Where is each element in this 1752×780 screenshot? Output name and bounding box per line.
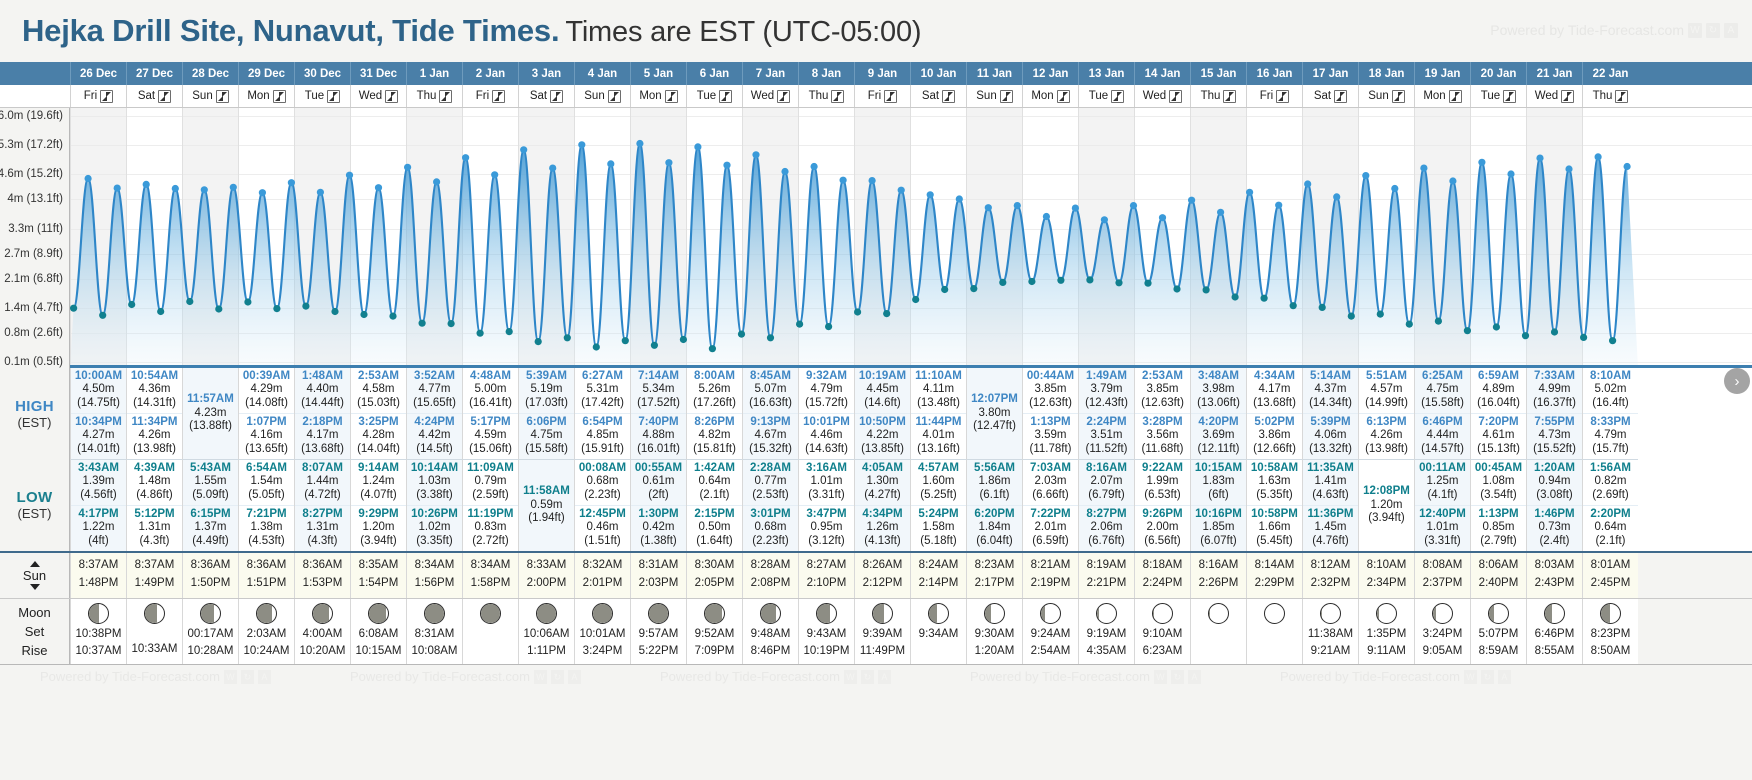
high-tide-entry: 8:00AM5.26m(17.26ft) <box>687 368 742 413</box>
high-tide-point <box>462 154 469 161</box>
high-tide-point <box>230 184 237 191</box>
expand-icon[interactable] <box>1334 90 1347 103</box>
footer-powered-by-text: Powered by Tide-Forecast.com <box>1280 669 1460 684</box>
wind-icon: W <box>1464 670 1477 684</box>
tide-height-feet: (15.72ft) <box>799 397 854 410</box>
moonrise-time: 9:21AM <box>1303 643 1358 660</box>
high-tide-point <box>636 140 643 147</box>
low-tide-entry: 11:19PM0.83m(2.72ft) <box>463 505 518 551</box>
date-header-cell[interactable]: 21 Jan <box>1526 62 1582 85</box>
tide-time: 8:27PM <box>295 508 350 521</box>
tide-time: 10:34PM <box>71 416 126 429</box>
tide-time: 2:28AM <box>743 462 798 475</box>
tide-height-meters: 1.83m <box>1191 475 1246 488</box>
chart-plot-area[interactable] <box>70 108 1752 368</box>
sunset-time: 1:51PM <box>239 575 294 593</box>
tide-height-meters: 1.54m <box>239 475 294 488</box>
date-header-cell[interactable]: 28 Dec <box>182 62 238 85</box>
moon-phase-icon <box>536 603 557 624</box>
tide-chart-page: Hejka Drill Site, Nunavut, Tide Times.Ti… <box>0 0 1752 780</box>
sunset-time: 2:21PM <box>1079 575 1134 593</box>
footer-powered-by-text: Powered by Tide-Forecast.com <box>350 669 530 684</box>
moon-column: 5:07PM8:59AM <box>1470 599 1526 665</box>
moonset-time: 6:46PM <box>1527 626 1582 643</box>
tide-height-meters: 3.69m <box>1191 429 1246 442</box>
sunset-time: 1:53PM <box>295 575 350 593</box>
tide-time: 8:45AM <box>743 370 798 383</box>
moonrise-time: 10:28AM <box>183 643 238 660</box>
high-tide-point <box>1014 202 1021 209</box>
low-tide-entry: 2:28AM0.77m(2.53ft) <box>743 460 798 505</box>
day-row-corner <box>0 85 70 107</box>
y-axis-tick-label: 0.8m (2.6ft) <box>4 327 63 339</box>
tide-height-meters: 4.27m <box>71 429 126 442</box>
sun-column: 8:36AM1:50PM <box>182 553 238 598</box>
tide-time: 8:00AM <box>687 370 742 383</box>
low-tide-point <box>941 286 948 293</box>
date-header-cell[interactable]: 16 Jan <box>1246 62 1302 85</box>
low-tide-entry: 10:15AM1.83m(6ft) <box>1191 460 1246 505</box>
tide-height-meters: 0.82m <box>1583 475 1638 488</box>
tide-height-feet: (4.76ft) <box>1303 535 1358 548</box>
moon-phase-icon <box>1600 603 1621 624</box>
tide-time: 2:53AM <box>1135 370 1190 383</box>
tide-height-meters: 5.07m <box>743 383 798 396</box>
tide-time: 12:08PM <box>1359 485 1414 498</box>
tide-time: 11:57AM <box>183 393 238 406</box>
sunset-time: 2:26PM <box>1191 575 1246 593</box>
expand-icon[interactable] <box>385 90 398 103</box>
high-tide-point <box>1507 170 1514 177</box>
low-tide-column: 9:14AM1.24m(4.07ft)9:29PM1.20m(3.94ft) <box>350 460 406 551</box>
tide-height-feet: (1.94ft) <box>519 512 574 525</box>
moonrise-time: 9:05AM <box>1415 643 1470 660</box>
tide-height-feet: (5.18ft) <box>911 535 966 548</box>
expand-icon[interactable] <box>158 90 171 103</box>
moon-label: Moon Set Rise <box>0 599 70 665</box>
date-row-corner <box>0 62 70 85</box>
low-tide-column: 8:16AM2.07m(6.79ft)8:27PM2.06m(6.76ft) <box>1078 460 1134 551</box>
moon-phase-icon <box>1040 603 1061 624</box>
refresh-icon: ↻ <box>861 670 874 684</box>
tide-time: 10:15AM <box>1191 462 1246 475</box>
expand-icon[interactable] <box>1449 90 1462 103</box>
date-header-cell[interactable]: 4 Jan <box>574 62 630 85</box>
expand-icon[interactable] <box>1276 90 1289 103</box>
tide-height-meters: 1.41m <box>1303 475 1358 488</box>
tide-height-feet: (14.44ft) <box>295 397 350 410</box>
date-header-cell[interactable]: 17 Jan <box>1302 62 1358 85</box>
moon-phase-icon <box>88 603 109 624</box>
tide-time: 6:54PM <box>575 416 630 429</box>
high-tide-entry: 12:07PM3.80m(12.47ft) <box>967 379 1022 447</box>
date-header-cell[interactable]: 8 Jan <box>798 62 854 85</box>
sun-column: 8:35AM1:54PM <box>350 553 406 598</box>
sun-column: 8:06AM2:40PM <box>1470 553 1526 598</box>
moon-column: 9:43AM10:19PM <box>798 599 854 665</box>
date-header-cell[interactable]: 7 Jan <box>742 62 798 85</box>
sunrise-time: 8:06AM <box>1471 557 1526 575</box>
tide-height-feet: (2.1ft) <box>687 489 742 502</box>
high-tide-column: 5:39AM5.19m(17.03ft)6:06PM4.75m(15.58ft) <box>518 368 574 460</box>
tide-height-feet: (15.7ft) <box>1583 443 1638 456</box>
tide-height-meters: 1.48m <box>127 475 182 488</box>
high-tide-point <box>1188 197 1195 204</box>
expand-icon[interactable] <box>1615 90 1628 103</box>
moon-column: 00:17AM10:28AM <box>182 599 238 665</box>
high-tide-point <box>143 181 150 188</box>
low-tide-point <box>128 301 135 308</box>
day-of-week-label: Sun <box>584 90 604 102</box>
tide-height-feet: (2.1ft) <box>1583 535 1638 548</box>
expand-icon[interactable] <box>100 90 113 103</box>
tide-height-feet: (15.58ft) <box>1415 397 1470 410</box>
expand-icon[interactable] <box>216 90 229 103</box>
tide-height-feet: (4.1ft) <box>1415 489 1470 502</box>
day-of-week-label: Mon <box>639 90 661 102</box>
date-header-cell[interactable]: 9 Jan <box>854 62 910 85</box>
expand-icon[interactable] <box>327 90 340 103</box>
expand-icon[interactable] <box>884 90 897 103</box>
sun-column: 8:37AM1:49PM <box>126 553 182 598</box>
moon-phase-icon <box>256 603 277 624</box>
expand-icon[interactable] <box>1000 90 1013 103</box>
tide-height-meters: 1.30m <box>855 475 910 488</box>
tide-time: 1:13PM <box>1471 508 1526 521</box>
date-header-cell[interactable]: 3 Jan <box>518 62 574 85</box>
date-header-cell[interactable]: 1 Jan <box>406 62 462 85</box>
expand-icon[interactable] <box>665 90 678 103</box>
tide-height-feet: (14.04ft) <box>351 443 406 456</box>
expand-icon[interactable] <box>550 90 563 103</box>
expand-icon[interactable] <box>719 90 732 103</box>
low-tide-entry: 2:20PM0.64m(2.1ft) <box>1583 505 1638 551</box>
moonrise-time: 8:46PM <box>743 643 798 660</box>
wind-icon: W <box>1688 23 1702 38</box>
high-tide-point <box>694 143 701 150</box>
expand-icon[interactable] <box>831 90 844 103</box>
tide-height-meters: 4.16m <box>239 429 294 442</box>
day-header-cell: Tue <box>686 85 742 107</box>
date-header-cell[interactable]: 30 Dec <box>294 62 350 85</box>
tide-height-meters: 4.77m <box>407 383 462 396</box>
tide-height-feet: (6.76ft) <box>1079 535 1134 548</box>
sunrise-arrow-icon <box>30 561 40 567</box>
high-tide-entry: 4:34AM4.17m(13.68ft) <box>1247 368 1302 413</box>
sunrise-time: 8:23AM <box>967 557 1022 575</box>
date-header-cell[interactable]: 5 Jan <box>630 62 686 85</box>
high-tide-column: 9:32AM4.79m(15.72ft)10:01PM4.46m(14.63ft… <box>798 368 854 460</box>
low-tide-point <box>70 305 77 312</box>
high-tide-point <box>752 151 759 158</box>
sunset-time: 1:54PM <box>351 575 406 593</box>
low-tide-point <box>1493 323 1500 330</box>
tide-time: 3:25PM <box>351 416 406 429</box>
day-header-cell: Tue <box>1470 85 1526 107</box>
tide-height-feet: (13.16ft) <box>911 443 966 456</box>
low-tide-point <box>999 279 1006 286</box>
tide-height-meters: 4.11m <box>911 383 966 396</box>
sunrise-time: 8:26AM <box>855 557 910 575</box>
sunrise-time: 8:16AM <box>1191 557 1246 575</box>
low-tide-entry: 9:22AM1.99m(6.53ft) <box>1135 460 1190 505</box>
low-tide-point <box>738 331 745 338</box>
low-tide-entry: 00:45AM1.08m(3.54ft) <box>1471 460 1526 505</box>
high-tide-point <box>1595 153 1602 160</box>
sunrise-time: 8:30AM <box>687 557 742 575</box>
high-tide-column: 6:59AM4.89m(16.04ft)7:20PM4.61m(15.13ft) <box>1470 368 1526 460</box>
moonset-time: 8:23PM <box>1583 626 1638 643</box>
high-tide-entry: 9:32AM4.79m(15.72ft) <box>799 368 854 413</box>
tide-height-feet: (15.81ft) <box>687 443 742 456</box>
tide-height-feet: (3.12ft) <box>799 535 854 548</box>
high-tide-point <box>607 160 614 167</box>
sun-column: 8:16AM2:26PM <box>1190 553 1246 598</box>
tide-height-feet: (14.75ft) <box>71 397 126 410</box>
high-tide-point <box>346 172 353 179</box>
footer-watermark: Powered by Tide-Forecast.comW↻A <box>660 669 891 684</box>
day-header-cell: Sun <box>1358 85 1414 107</box>
tide-time: 10:19AM <box>855 370 910 383</box>
day-of-week-label: Tue <box>697 90 716 102</box>
sunset-time: 2:08PM <box>743 575 798 593</box>
tide-time: 3:47PM <box>799 508 854 521</box>
tide-height-meters: 5.02m <box>1583 383 1638 396</box>
high-tide-point <box>1449 177 1456 184</box>
date-header-cell[interactable]: 11 Jan <box>966 62 1022 85</box>
tide-height-feet: (1.64ft) <box>687 535 742 548</box>
tide-time: 11:19PM <box>463 508 518 521</box>
sunset-time: 2:17PM <box>967 575 1022 593</box>
moon-column: 4:00AM10:20AM <box>294 599 350 665</box>
tide-height-feet: (12.63ft) <box>1135 397 1190 410</box>
tide-time: 11:58AM <box>519 485 574 498</box>
high-tide-point <box>1624 163 1631 170</box>
tide-height-meters: 4.57m <box>1359 383 1414 396</box>
sunrise-time: 8:33AM <box>519 557 574 575</box>
sun-column: 8:34AM1:56PM <box>406 553 462 598</box>
date-header-cell[interactable]: 18 Jan <box>1358 62 1414 85</box>
high-tide-entry: 3:28PM3.56m(11.68ft) <box>1135 413 1190 459</box>
scroll-right-button[interactable]: › <box>1724 368 1750 394</box>
expand-icon[interactable] <box>1561 90 1574 103</box>
moonset-time: 4:00AM <box>295 626 350 643</box>
expand-icon[interactable] <box>273 90 286 103</box>
high-tide-point <box>172 185 179 192</box>
date-header-cell[interactable]: 10 Jan <box>910 62 966 85</box>
high-tide-point <box>723 162 730 169</box>
date-header-cell[interactable]: 13 Jan <box>1078 62 1134 85</box>
moon-column: 6:46PM8:55AM <box>1526 599 1582 665</box>
high-tide-column: 12:07PM3.80m(12.47ft) <box>966 368 1022 460</box>
tide-height-meters: 0.94m <box>1527 475 1582 488</box>
high-tide-entry: 7:14AM5.34m(17.52ft) <box>631 368 686 413</box>
tide-time: 5:14AM <box>1303 370 1358 383</box>
moonrise-time: 1:11PM <box>519 643 574 660</box>
high-tide-point <box>1304 180 1311 187</box>
tide-time: 12:07PM <box>967 393 1022 406</box>
tide-time: 5:12PM <box>127 508 182 521</box>
tide-height-meters: 3.86m <box>1247 429 1302 442</box>
low-tide-entry: 8:16AM2.07m(6.79ft) <box>1079 460 1134 505</box>
tide-chart: 6.0m (19.6ft)5.3m (17.2ft)4.6m (15.2ft)4… <box>0 108 1752 368</box>
tide-time: 9:14AM <box>351 462 406 475</box>
sunset-time: 2:34PM <box>1359 575 1414 593</box>
high-tide-column: 10:54AM4.36m(14.31ft)11:34PM4.26m(13.98f… <box>126 368 182 460</box>
low-tide-point <box>506 328 513 335</box>
moonrise-label-text: Rise <box>21 643 47 658</box>
sun-column: 8:24AM2:14PM <box>910 553 966 598</box>
tide-height-feet: (17.52ft) <box>631 397 686 410</box>
moon-phase-icon <box>928 603 949 624</box>
tide-height-feet: (14.34ft) <box>1303 397 1358 410</box>
date-header-cell[interactable]: 31 Dec <box>350 62 406 85</box>
footer-powered-by-text: Powered by Tide-Forecast.com <box>40 669 220 684</box>
low-tide-point <box>1464 327 1471 334</box>
expand-icon[interactable] <box>1392 90 1405 103</box>
tide-height-meters: 1.85m <box>1191 521 1246 534</box>
tide-height-feet: (3.38ft) <box>407 489 462 502</box>
tide-time: 5:39PM <box>1303 416 1358 429</box>
moonset-time <box>463 626 518 641</box>
expand-icon[interactable] <box>777 90 790 103</box>
moon-phase-icon <box>1096 603 1117 624</box>
date-header-cell[interactable]: 20 Jan <box>1470 62 1526 85</box>
tide-time: 6:20PM <box>967 508 1022 521</box>
low-tide-point <box>273 305 280 312</box>
day-header-cell: Sun <box>574 85 630 107</box>
tide-time: 11:10AM <box>911 370 966 383</box>
moonrise-time: 10:37AM <box>71 643 126 660</box>
tide-height-feet: (6.04ft) <box>967 535 1022 548</box>
day-row: FriSatSunMonTueWedThuFriSatSunMonTueWedT… <box>0 85 1752 108</box>
tide-height-meters: 0.59m <box>519 499 574 512</box>
expand-icon[interactable] <box>1503 90 1516 103</box>
high-tide-point <box>317 189 324 196</box>
tide-height-feet: (4ft) <box>71 535 126 548</box>
tide-height-feet: (3.94ft) <box>351 535 406 548</box>
expand-icon[interactable] <box>608 90 621 103</box>
expand-icon[interactable] <box>942 90 955 103</box>
tide-time: 7:20PM <box>1471 416 1526 429</box>
low-tide-point <box>651 342 658 349</box>
tide-time: 7:40PM <box>631 416 686 429</box>
moonset-time: 1:35PM <box>1359 626 1414 643</box>
date-header-cell[interactable]: 12 Jan <box>1022 62 1078 85</box>
date-header-cell[interactable]: 19 Jan <box>1414 62 1470 85</box>
high-tide-entry: 6:06PM4.75m(15.58ft) <box>519 413 574 459</box>
sunrise-time: 8:31AM <box>631 557 686 575</box>
day-header-cell: Fri <box>70 85 126 107</box>
sunset-time: 2:14PM <box>911 575 966 593</box>
date-header-cell[interactable]: 27 Dec <box>126 62 182 85</box>
tide-height-meters: 4.40m <box>295 383 350 396</box>
tide-height-meters: 0.85m <box>1471 521 1526 534</box>
low-tide-point <box>767 334 774 341</box>
low-tide-entry: 7:22PM2.01m(6.59ft) <box>1023 505 1078 551</box>
warning-icon: A <box>568 670 581 684</box>
tide-height-meters: 1.63m <box>1247 475 1302 488</box>
tide-height-meters: 4.17m <box>295 429 350 442</box>
moon-column: 10:33AM <box>126 599 182 665</box>
sunrise-time: 8:36AM <box>183 557 238 575</box>
date-header-cell[interactable]: 15 Jan <box>1190 62 1246 85</box>
day-header-cell: Fri <box>462 85 518 107</box>
tide-time: 3:01PM <box>743 508 798 521</box>
date-header-cell[interactable]: 14 Jan <box>1134 62 1190 85</box>
high-tide-column: 11:57AM4.23m(13.88ft) <box>182 368 238 460</box>
high-tide-point <box>898 187 905 194</box>
date-header-cell[interactable]: 26 Dec <box>70 62 126 85</box>
tide-height-meters: 4.28m <box>351 429 406 442</box>
low-tide-point <box>912 296 919 303</box>
tide-time: 7:03AM <box>1023 462 1078 475</box>
tide-height-meters: 1.20m <box>1359 499 1414 512</box>
expand-icon[interactable] <box>439 90 452 103</box>
moonrise-time: 10:15AM <box>351 643 406 660</box>
moonrise-time: 9:11AM <box>1359 643 1414 660</box>
low-tide-entry: 4:05AM1.30m(4.27ft) <box>855 460 910 505</box>
sunrise-time: 8:01AM <box>1583 557 1638 575</box>
sun-column: 8:10AM2:34PM <box>1358 553 1414 598</box>
date-header-cell[interactable]: 29 Dec <box>238 62 294 85</box>
low-tide-entry: 4:34PM1.26m(4.13ft) <box>855 505 910 551</box>
high-tide-point <box>1362 172 1369 179</box>
low-tide-column: 4:39AM1.48m(4.86ft)5:12PM1.31m(4.3ft) <box>126 460 182 551</box>
moonset-time: 9:39AM <box>855 626 910 643</box>
tide-height-feet: (13.98ft) <box>127 443 182 456</box>
warning-icon: A <box>878 670 891 684</box>
sunset-time: 2:01PM <box>575 575 630 593</box>
tide-time: 2:53AM <box>351 370 406 383</box>
expand-icon[interactable] <box>1057 90 1070 103</box>
expand-icon[interactable] <box>1111 90 1124 103</box>
moon-column: 11:38AM9:21AM <box>1302 599 1358 665</box>
tide-height-meters: 0.46m <box>575 521 630 534</box>
expand-icon[interactable] <box>492 90 505 103</box>
sun-column: 8:27AM2:10PM <box>798 553 854 598</box>
moonset-time: 9:43AM <box>799 626 854 643</box>
moon-column: 8:23PM8:50AM <box>1582 599 1638 665</box>
expand-icon[interactable] <box>1169 90 1182 103</box>
low-tide-column: 12:08PM1.20m(3.94ft) <box>1358 460 1414 551</box>
tide-height-feet: (13.06ft) <box>1191 397 1246 410</box>
moonset-time: 9:19AM <box>1079 626 1134 643</box>
tide-height-meters: 1.01m <box>1415 521 1470 534</box>
tide-time: 9:13PM <box>743 416 798 429</box>
high-tide-entry: 7:20PM4.61m(15.13ft) <box>1471 413 1526 459</box>
tide-height-meters: 4.45m <box>855 383 910 396</box>
date-header-cell[interactable]: 2 Jan <box>462 62 518 85</box>
tide-time: 00:45AM <box>1471 462 1526 475</box>
tide-time: 10:26PM <box>407 508 462 521</box>
tide-height-feet: (12.47ft) <box>967 420 1022 433</box>
moon-column: 8:31AM10:08AM <box>406 599 462 665</box>
date-header-cell[interactable]: 22 Jan <box>1582 62 1638 85</box>
moonrise-time: 7:09PM <box>687 643 742 660</box>
high-tide-entry: 11:10AM4.11m(13.48ft) <box>911 368 966 413</box>
tide-time: 10:58AM <box>1247 462 1302 475</box>
tide-height-meters: 4.75m <box>519 429 574 442</box>
sun-column: 8:14AM2:29PM <box>1246 553 1302 598</box>
date-header-cell[interactable]: 6 Jan <box>686 62 742 85</box>
tide-height-feet: (4.13ft) <box>855 535 910 548</box>
moonset-time: 10:38PM <box>71 626 126 643</box>
low-tide-point <box>1522 332 1529 339</box>
expand-icon[interactable] <box>1223 90 1236 103</box>
low-tide-point <box>622 337 629 344</box>
high-tide-column: 00:39AM4.29m(14.08ft)1:07PM4.16m(13.65ft… <box>238 368 294 460</box>
